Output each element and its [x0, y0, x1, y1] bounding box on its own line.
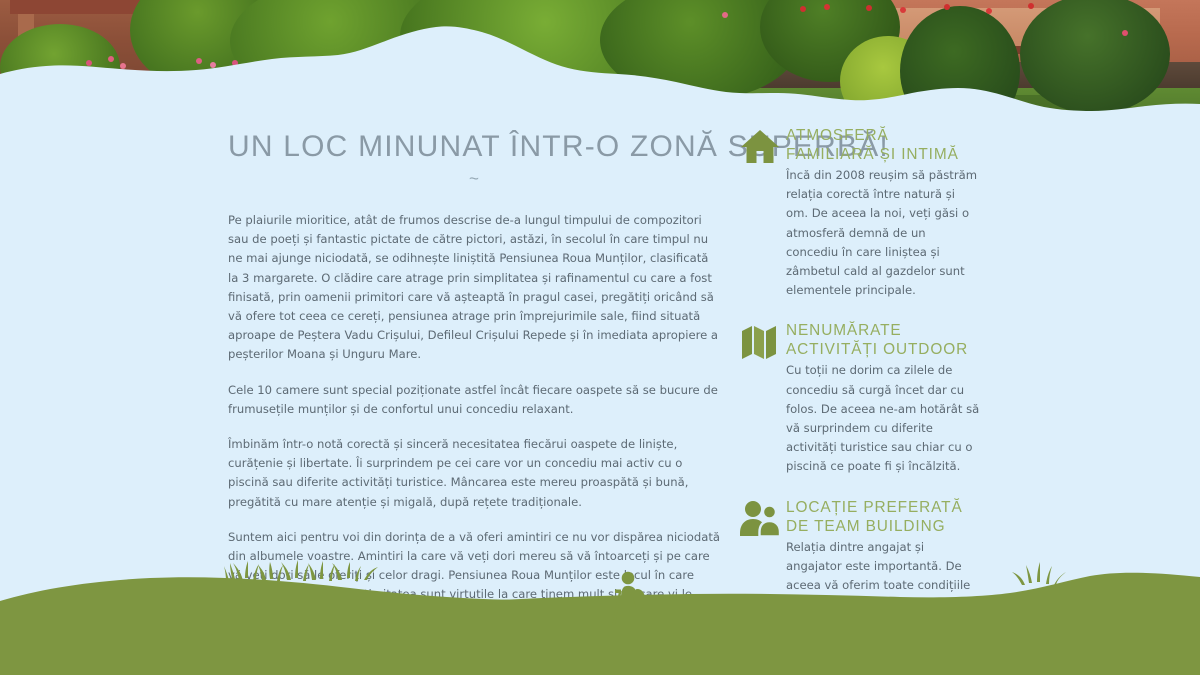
intro-paragraph: Cele 10 camere sunt special poziționate …	[228, 381, 720, 419]
feature-title: ATMOSFERĂ FAMILIARĂ ȘI INTIMĂ	[786, 126, 980, 164]
map-icon	[740, 323, 780, 361]
content-area: UN LOC MINUNAT ÎNTR-O ZONĂ SUPERBĂ! ~ Pe…	[0, 122, 1200, 552]
grass-tuft-icon	[1012, 562, 1066, 585]
house-icon	[740, 128, 780, 166]
feature-title: NENUMĂRATE ACTIVITĂȚI OUTDOOR	[786, 321, 980, 359]
page-root: UN LOC MINUNAT ÎNTR-O ZONĂ SUPERBĂ! ~ Pe…	[0, 0, 1200, 675]
feature-item: ATMOSFERĂ FAMILIARĂ ȘI INTIMĂ Încă din 2…	[740, 126, 980, 300]
feature-item: NENUMĂRATE ACTIVITĂȚI OUTDOOR Cu toții n…	[740, 321, 980, 476]
feature-title: LOCAȚIE PREFERATĂ DE TEAM BUILDING	[786, 498, 980, 536]
hero-photo-image	[0, 0, 1200, 122]
intro-paragraph: Îmbinăm într-o notă corectă și sinceră n…	[228, 435, 720, 512]
people-icon	[740, 500, 780, 538]
grass-tuft-icon	[224, 560, 378, 581]
tilde-ornament: ~	[228, 172, 720, 186]
page-title: UN LOC MINUNAT ÎNTR-O ZONĂ SUPERBĂ!	[228, 122, 720, 164]
hills-footer	[0, 545, 1200, 675]
feature-text: Încă din 2008 reușim să păstrăm relația …	[786, 166, 980, 300]
intro-paragraph: Pe plaiurile mioritice, atât de frumos d…	[228, 211, 720, 365]
hero-photo	[0, 0, 1200, 122]
feature-text: Cu toții ne dorim ca zilele de concediu …	[786, 361, 980, 476]
